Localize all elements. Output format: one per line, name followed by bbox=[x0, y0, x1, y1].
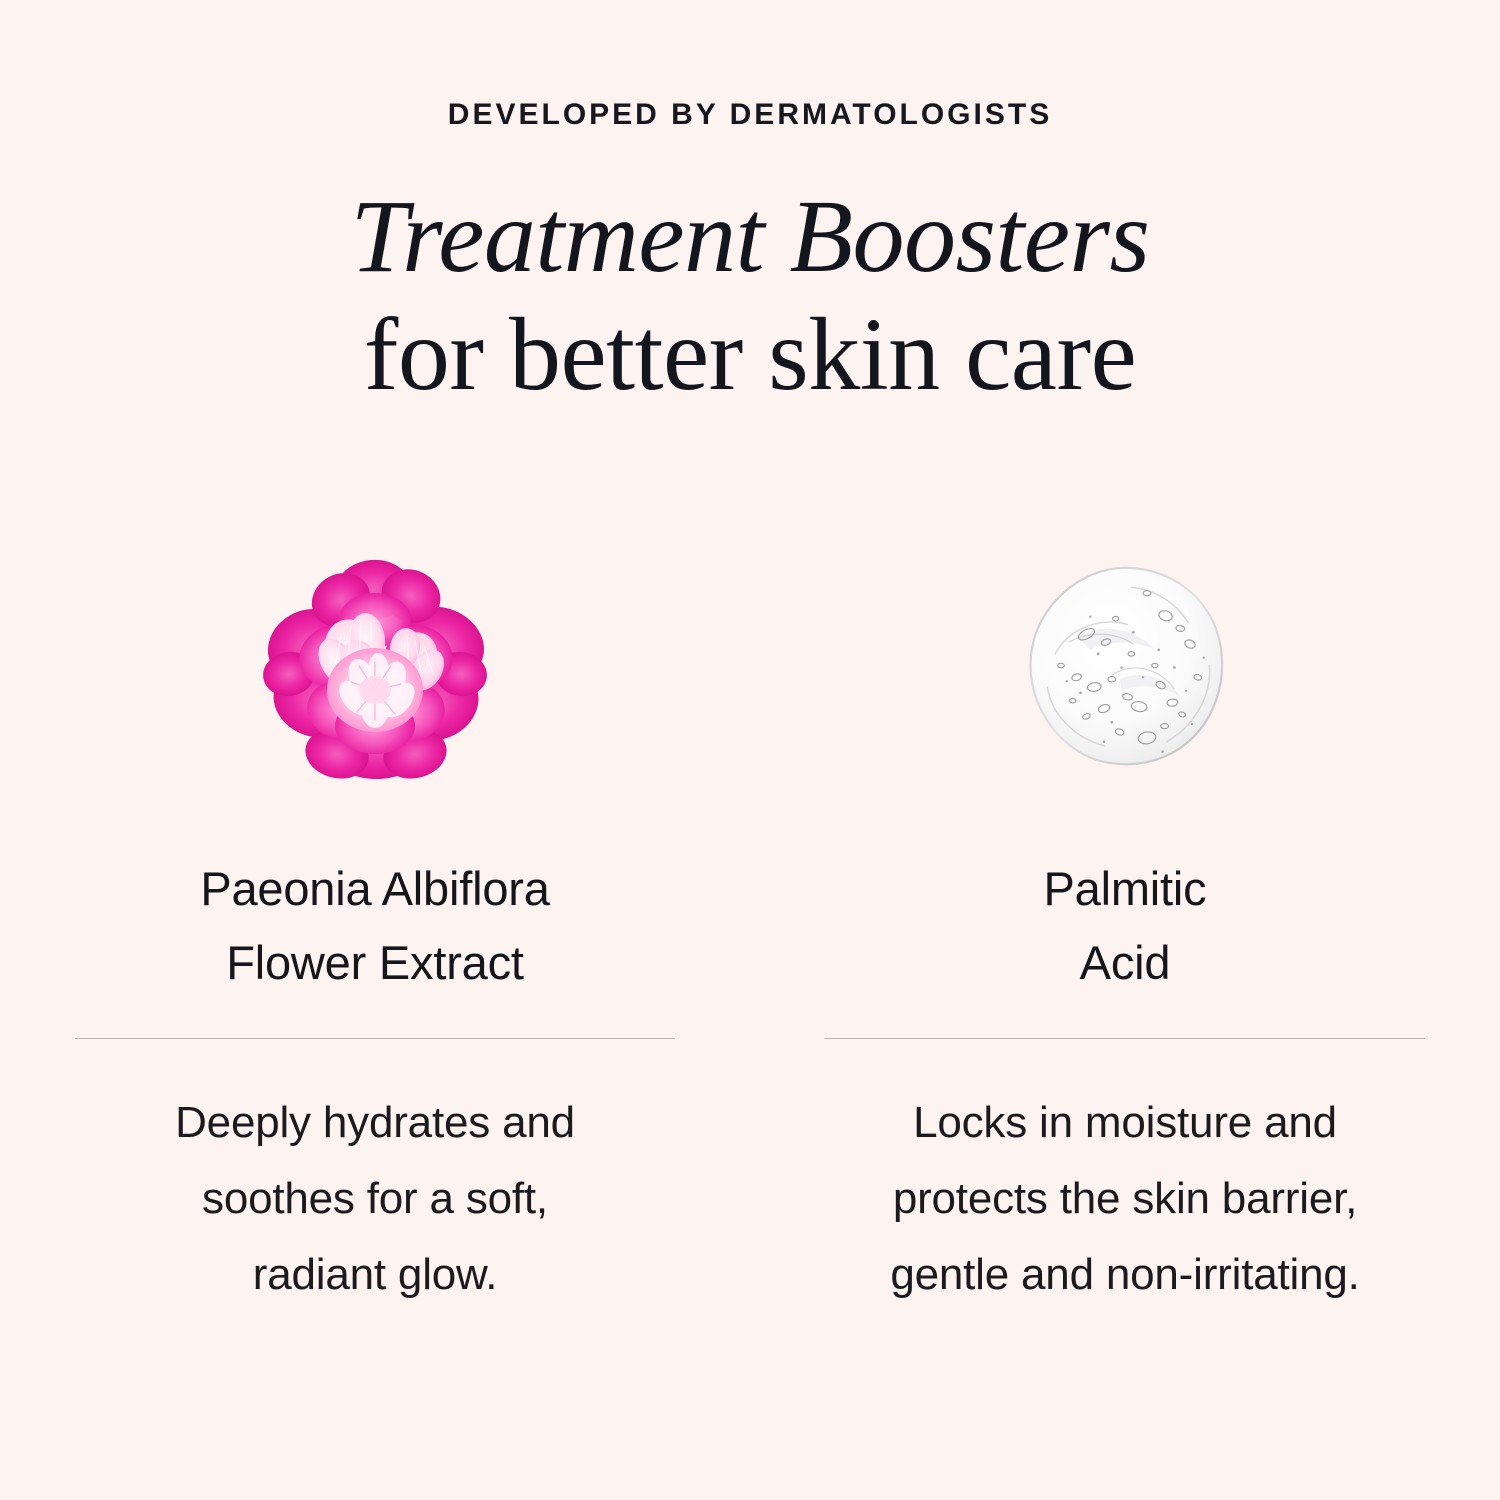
description-line-1: Deeply hydrates and bbox=[175, 1085, 575, 1161]
ingredient-columns: Paeonia Albiflora Flower Extract Deeply … bbox=[0, 545, 1500, 1313]
clear-gel-droplet-image bbox=[995, 545, 1255, 790]
ingredient-card-palmitic-acid: Palmitic Acid Locks in moisture and prot… bbox=[750, 545, 1500, 1313]
description-line-1: Locks in moisture and bbox=[890, 1085, 1359, 1161]
description-line-2: soothes for a soft, bbox=[175, 1161, 575, 1237]
infographic-page: DEVELOPED BY DERMATOLOGISTS Treatment Bo… bbox=[0, 0, 1500, 1500]
ingredient-title-line-1: Palmitic bbox=[1044, 852, 1207, 926]
divider bbox=[825, 1038, 1425, 1039]
ingredient-description: Locks in moisture and protects the skin … bbox=[890, 1085, 1359, 1313]
ingredient-title: Paeonia Albiflora Flower Extract bbox=[200, 852, 549, 1000]
headline-line-1: Treatment Boosters bbox=[0, 178, 1500, 296]
ingredient-title-line-1: Paeonia Albiflora bbox=[200, 852, 549, 926]
description-line-3: radiant glow. bbox=[175, 1237, 575, 1313]
peony-flower-image bbox=[245, 545, 505, 790]
headline-line-2: for better skin care bbox=[0, 296, 1500, 414]
divider bbox=[75, 1038, 675, 1039]
ingredient-title: Palmitic Acid bbox=[1044, 852, 1207, 1000]
ingredient-description: Deeply hydrates and soothes for a soft, … bbox=[175, 1085, 575, 1313]
ingredient-title-line-2: Flower Extract bbox=[200, 926, 549, 1000]
ingredient-title-line-2: Acid bbox=[1044, 926, 1207, 1000]
description-line-3: gentle and non-irritating. bbox=[890, 1237, 1359, 1313]
page-title: Treatment Boosters for better skin care bbox=[0, 178, 1500, 414]
ingredient-card-peony: Paeonia Albiflora Flower Extract Deeply … bbox=[0, 545, 750, 1313]
eyebrow-text: DEVELOPED BY DERMATOLOGISTS bbox=[0, 98, 1500, 132]
description-line-2: protects the skin barrier, bbox=[890, 1161, 1359, 1237]
